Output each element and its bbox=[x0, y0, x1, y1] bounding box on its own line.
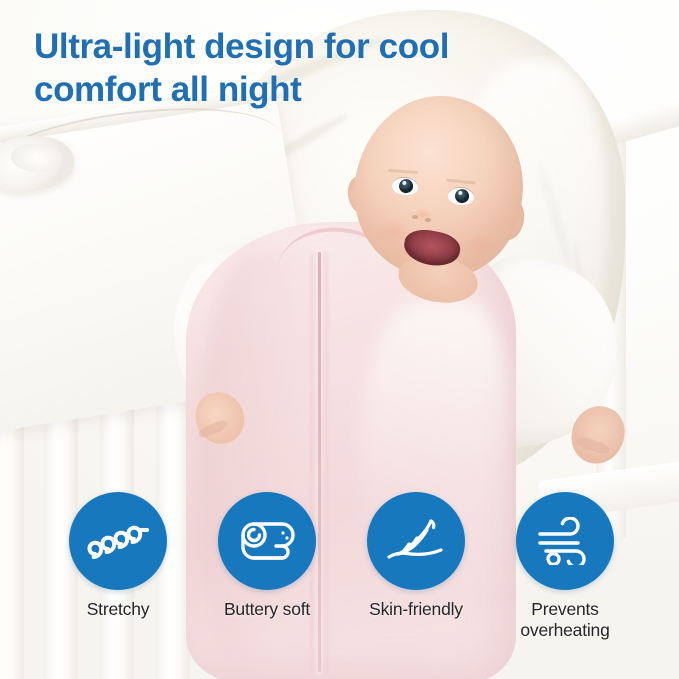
spring-coil-icon bbox=[87, 520, 149, 562]
baby-cheek-right bbox=[456, 226, 508, 266]
feature-badge-circle bbox=[218, 492, 316, 590]
feature-list: Stretchy Buttery soft bbox=[0, 492, 679, 662]
wind-airflow-icon bbox=[534, 517, 596, 565]
feature-badge-circle bbox=[69, 492, 167, 590]
baby-nostril bbox=[412, 215, 418, 219]
fabric-roll-icon bbox=[237, 518, 297, 564]
feature-label: Prevents overheating bbox=[503, 599, 628, 640]
feature-item-buttery-soft: Buttery soft bbox=[217, 492, 317, 620]
feature-label: Skin-friendly bbox=[354, 599, 479, 620]
baby-nostril bbox=[425, 218, 431, 222]
hand-on-fabric-icon bbox=[384, 516, 448, 566]
feature-item-stretchy: Stretchy bbox=[68, 492, 168, 620]
feature-badge-circle bbox=[367, 492, 465, 590]
feature-item-prevents-overheating: Prevents overheating bbox=[515, 492, 615, 640]
feature-label: Buttery soft bbox=[205, 599, 330, 620]
product-feature-image: Ultra-light design for cool comfort all … bbox=[0, 0, 679, 679]
feature-badge-circle bbox=[516, 492, 614, 590]
page-title: Ultra-light design for cool comfort all … bbox=[34, 26, 554, 111]
feature-item-skin-friendly: Skin-friendly bbox=[366, 492, 466, 620]
feature-label: Stretchy bbox=[56, 599, 181, 620]
